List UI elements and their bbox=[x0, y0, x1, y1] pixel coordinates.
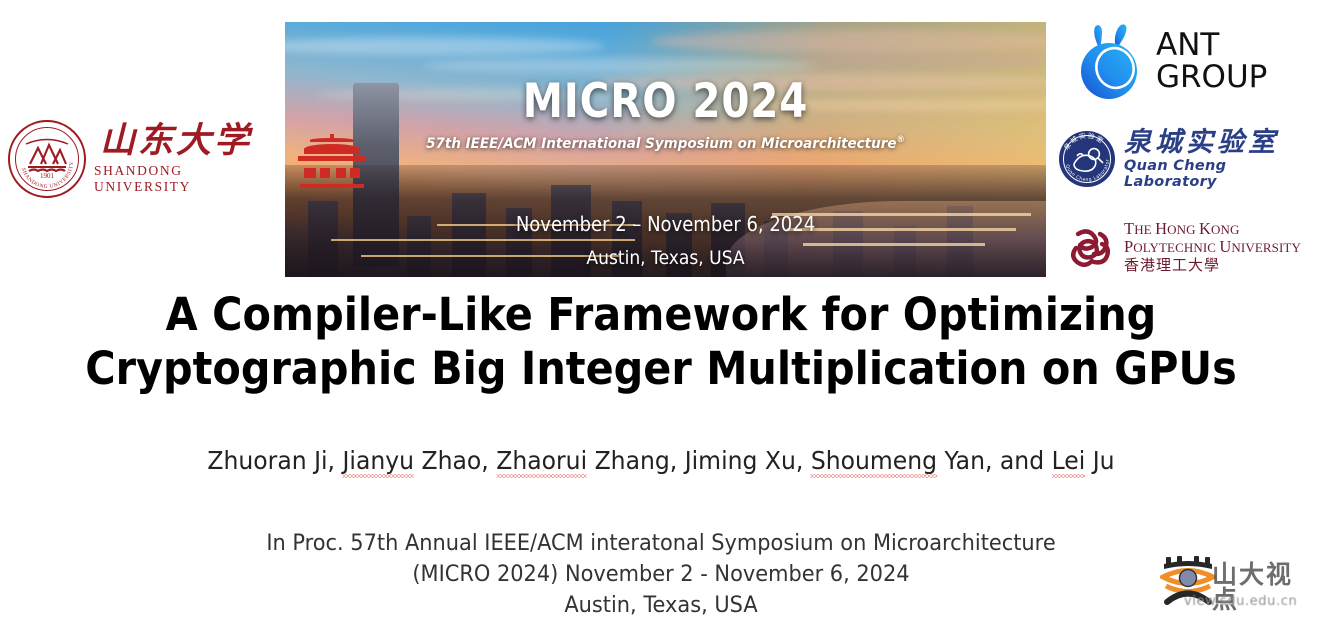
watermark-url: view.sdu.edu.cn bbox=[1184, 594, 1297, 609]
quan-cheng-laboratory-logo: 泉城实验室 Quan Cheng Laboratory 泉城实验室 Quan C… bbox=[1058, 128, 1318, 190]
author-name: Ju bbox=[1085, 446, 1114, 475]
quan-cheng-seal-icon: 泉城实验室 Quan Cheng Laboratory bbox=[1058, 130, 1116, 188]
publication-line-2: (MICRO 2024) November 2 - November 6, 20… bbox=[33, 559, 1289, 590]
quan-cheng-name-cn: 泉城实验室 bbox=[1124, 129, 1318, 156]
author-name: Yan, and bbox=[937, 446, 1052, 475]
banner-title: MICRO 2024 bbox=[338, 74, 992, 129]
polyu-name-line1: THE HONG KONG bbox=[1124, 220, 1301, 238]
polyu-l2a: P bbox=[1124, 237, 1133, 256]
polyu-l2c: U bbox=[1219, 237, 1231, 256]
polyu-name-cn: 香港理工大學 bbox=[1124, 257, 1301, 274]
polyu-l2b: OLYTECHNIC bbox=[1133, 240, 1219, 255]
sdu-view-watermark: 山大视点 view.sdu.edu.cn bbox=[1160, 556, 1310, 620]
publication-info: In Proc. 57th Annual IEEE/ACM interatona… bbox=[33, 528, 1289, 622]
banner-subtitle: 57th IEEE/ACM International Symposium on… bbox=[312, 135, 1020, 152]
author-name-misspelled: Lei bbox=[1052, 446, 1086, 475]
ant-group-logo: ANT GROUP bbox=[1073, 18, 1288, 106]
banner-subtitle-text: 57th IEEE/ACM International Symposium on… bbox=[426, 136, 896, 152]
ant-group-label-line1: ANT bbox=[1156, 30, 1267, 62]
banner-location: Austin, Texas, USA bbox=[323, 247, 1008, 269]
polyu-knot-icon bbox=[1066, 224, 1116, 270]
shandong-university-name-en: SHANDONG UNIVERSITY bbox=[94, 163, 258, 195]
svg-text:1901: 1901 bbox=[40, 172, 55, 180]
shandong-university-logo: 1901 SHANDONG UNIVERSITY 山东大学 SHANDONG U… bbox=[8, 118, 258, 200]
polyu-name-line2: POLYTECHNIC UNIVERSITY bbox=[1124, 238, 1301, 256]
publication-line-3: Austin, Texas, USA bbox=[33, 590, 1289, 621]
author-name: Zhao, bbox=[414, 446, 496, 475]
author-name: Zhang, Jiming Xu, bbox=[587, 446, 811, 475]
hong-kong-polytechnic-university-logo: THE HONG KONG POLYTECHNIC UNIVERSITY 香港理… bbox=[1066, 221, 1318, 273]
presentation-title-slide: 1901 SHANDONG UNIVERSITY 山东大学 SHANDONG U… bbox=[0, 0, 1322, 626]
author-name-misspelled: Zhaorui bbox=[496, 446, 587, 475]
polyu-l1c: H bbox=[1155, 219, 1167, 238]
shandong-university-seal-icon: 1901 SHANDONG UNIVERSITY bbox=[8, 120, 86, 198]
polyu-l1f: ONG bbox=[1211, 222, 1239, 237]
page-title: A Compiler-Like Framework for Optimizing… bbox=[53, 288, 1269, 397]
polyu-l2d: NIVERSITY bbox=[1231, 240, 1301, 255]
polyu-l1e: K bbox=[1199, 219, 1211, 238]
banner-dates: November 2 – November 6, 2024 bbox=[323, 212, 1008, 236]
author-name-misspelled: Shoumeng bbox=[811, 446, 937, 475]
polyu-l1d: ONG bbox=[1167, 222, 1199, 237]
micro-2024-banner-image: MICRO 2024 57th IEEE/ACM International S… bbox=[285, 22, 1046, 277]
ant-group-mark-icon bbox=[1073, 22, 1147, 102]
quan-cheng-name-en: Quan Cheng Laboratory bbox=[1124, 158, 1318, 190]
author-list: Zhuoran Ji, Jianyu Zhao, Zhaorui Zhang, … bbox=[40, 446, 1283, 475]
author-name-misspelled: Jianyu bbox=[343, 446, 415, 475]
author-name: Zhuoran Ji, bbox=[207, 446, 342, 475]
banner-registered-mark: ® bbox=[897, 135, 905, 145]
shandong-university-name-cn: 山东大学 bbox=[100, 123, 252, 160]
title-line-2: Cryptographic Big Integer Multiplication… bbox=[53, 342, 1269, 396]
title-line-1: A Compiler-Like Framework for Optimizing bbox=[53, 288, 1269, 342]
ant-group-label-line2: GROUP bbox=[1156, 62, 1267, 94]
publication-line-1: In Proc. 57th Annual IEEE/ACM interatona… bbox=[33, 528, 1289, 559]
polyu-l1a: T bbox=[1124, 219, 1134, 238]
polyu-l1b: HE bbox=[1134, 222, 1155, 237]
